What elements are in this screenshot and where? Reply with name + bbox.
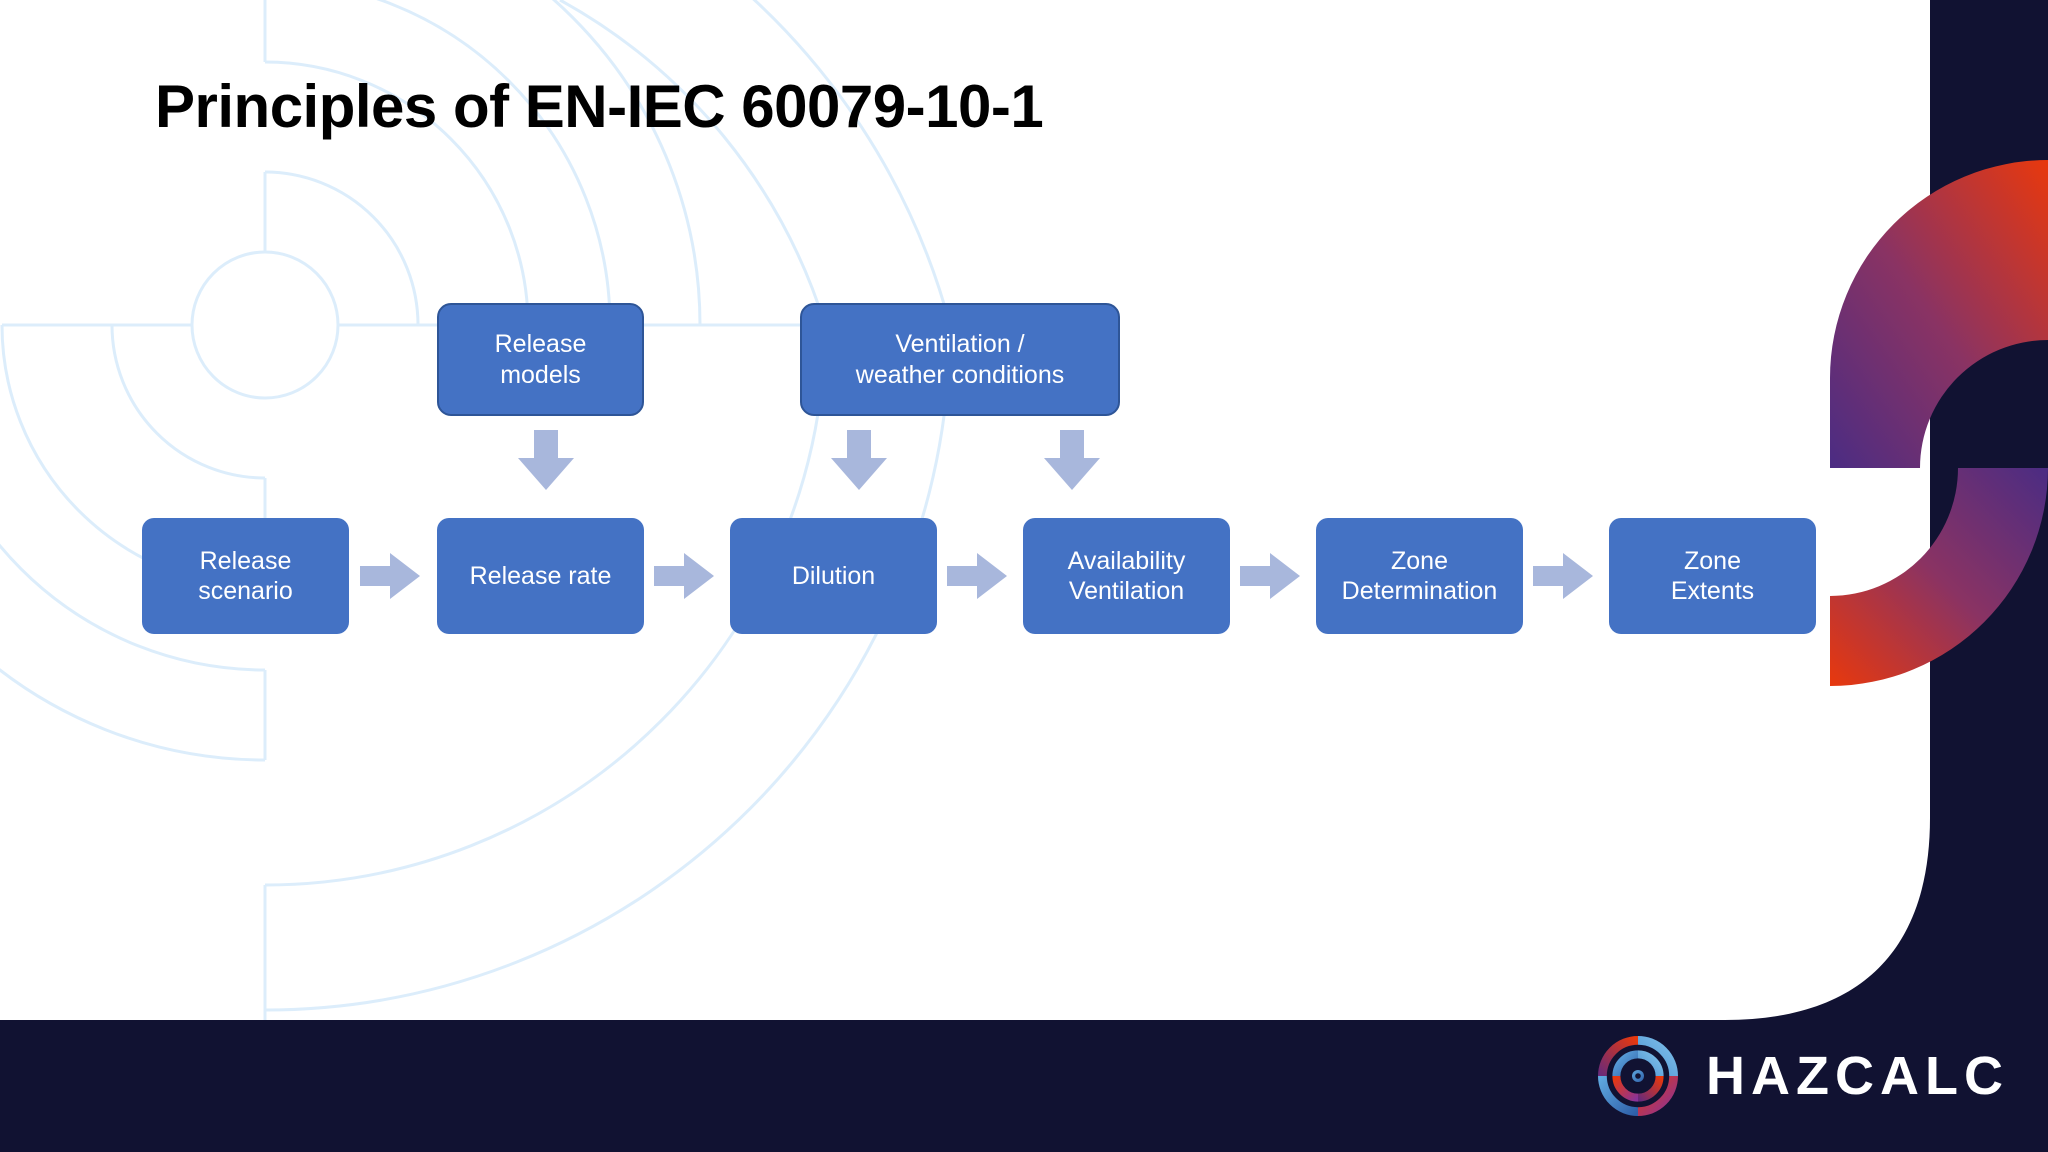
node-availability-ventilation-line2: Ventilation [1069, 577, 1184, 605]
node-zone-extents-line2: Extents [1671, 577, 1754, 605]
arrow-right-icon-1 [360, 551, 422, 601]
node-release-rate-line1: Release rate [470, 562, 612, 590]
hazcalc-target-logo-icon [1598, 1036, 1678, 1116]
node-release-models-line1: Release [495, 330, 587, 358]
swoosh-arc-top [1830, 160, 2048, 468]
arrow-right-icon-2 [654, 551, 716, 601]
arrow-down-icon-2 [825, 430, 893, 492]
arrow-right-icon-3 [947, 551, 1009, 601]
brand-name: HAZCALC [1706, 1049, 2009, 1103]
node-dilution[interactable]: Dilution [730, 518, 937, 634]
node-zone-extents[interactable]: Zone Extents [1609, 518, 1816, 634]
node-zone-determination-line1: Zone [1391, 547, 1448, 575]
node-release-rate[interactable]: Release rate [437, 518, 644, 634]
node-release-models-line2: models [500, 361, 581, 389]
brand-logo: HAZCALC [1598, 1030, 2018, 1122]
node-release-models[interactable]: Release models [437, 303, 644, 416]
node-zone-determination-line2: Determination [1342, 577, 1498, 605]
node-availability-ventilation-line1: Availability [1068, 547, 1186, 575]
node-release-scenario[interactable]: Release scenario [142, 518, 349, 634]
slide-canvas: Principles of EN-IEC 60079-10-1 Release … [0, 0, 2048, 1152]
node-zone-determination[interactable]: Zone Determination [1316, 518, 1523, 634]
node-zone-extents-line1: Zone [1684, 547, 1741, 575]
swoosh-arc-bottom [1830, 468, 2048, 686]
node-release-scenario-line2: scenario [198, 577, 293, 605]
arrow-down-icon-1 [512, 430, 580, 492]
node-ventilation-weather-line2: weather conditions [856, 361, 1064, 389]
node-release-scenario-line1: Release [200, 547, 292, 575]
arrow-right-icon-4 [1240, 551, 1302, 601]
page-title: Principles of EN-IEC 60079-10-1 [155, 72, 1043, 141]
node-dilution-line1: Dilution [792, 562, 875, 590]
arrow-right-icon-5 [1533, 551, 1595, 601]
node-availability-ventilation[interactable]: Availability Ventilation [1023, 518, 1230, 634]
node-ventilation-weather[interactable]: Ventilation / weather conditions [800, 303, 1120, 416]
arrow-down-icon-3 [1038, 430, 1106, 492]
node-ventilation-weather-line1: Ventilation / [895, 330, 1024, 358]
